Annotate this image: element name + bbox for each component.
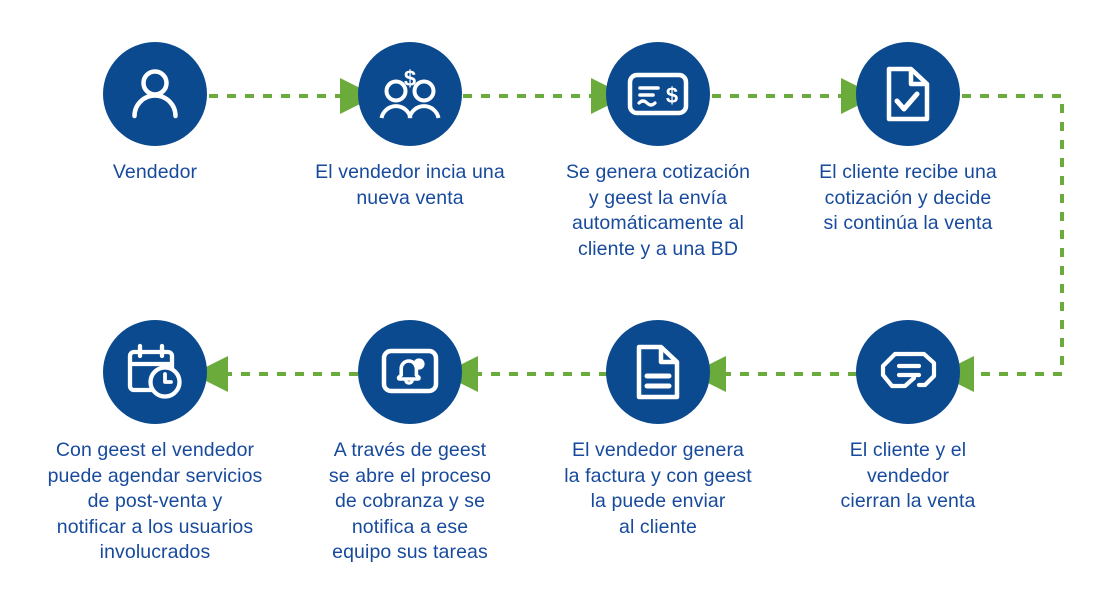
node-cobranza[interactable]: A través de geest se abre el proceso de … bbox=[295, 320, 525, 566]
node-cierre-label: El cliente y el vendedor cierran la vent… bbox=[793, 438, 1023, 515]
node-post-venta[interactable]: Con geest el vendedor puede agendar serv… bbox=[40, 320, 270, 566]
screen-bell-icon bbox=[380, 347, 440, 397]
node-post-venta-label: Con geest el vendedor puede agendar serv… bbox=[40, 438, 270, 566]
node-cierre-disc bbox=[856, 320, 960, 424]
node-factura-disc bbox=[606, 320, 710, 424]
calendar-clock-icon bbox=[125, 343, 185, 401]
svg-text:$: $ bbox=[666, 83, 678, 108]
node-cobranza-label: A través de geest se abre el proceso de … bbox=[295, 438, 525, 566]
node-post-venta-disc bbox=[103, 320, 207, 424]
node-cotizacion[interactable]: $ Se genera cotización y geest la envía … bbox=[543, 42, 773, 262]
node-nueva-venta-disc: $ bbox=[358, 42, 462, 146]
document-check-icon bbox=[882, 65, 934, 123]
node-nueva-venta[interactable]: $ El vendedor incia una nueva venta bbox=[295, 42, 525, 211]
node-cotizacion-label: Se genera cotización y geest la envía au… bbox=[543, 160, 773, 262]
node-vendedor-disc bbox=[103, 42, 207, 146]
handshake-icon bbox=[877, 344, 939, 400]
cheque-dollar-icon: $ bbox=[627, 70, 689, 118]
node-cierre[interactable]: El cliente y el vendedor cierran la vent… bbox=[793, 320, 1023, 515]
node-factura[interactable]: El vendedor genera la factura y con gees… bbox=[543, 320, 773, 540]
node-cliente-recibe[interactable]: El cliente recibe una cotización y decid… bbox=[793, 42, 1023, 237]
node-vendedor-label: Vendedor bbox=[40, 160, 270, 186]
node-cliente-recibe-disc bbox=[856, 42, 960, 146]
node-factura-label: El vendedor genera la factura y con gees… bbox=[543, 438, 773, 540]
diagram-canvas: Vendedor $ El vendedor incia una nueva v… bbox=[0, 0, 1111, 604]
node-cliente-recibe-label: El cliente recibe una cotización y decid… bbox=[793, 160, 1023, 237]
node-cotizacion-disc: $ bbox=[606, 42, 710, 146]
node-vendedor[interactable]: Vendedor bbox=[40, 42, 270, 186]
node-nueva-venta-label: El vendedor incia una nueva venta bbox=[295, 160, 525, 211]
node-cobranza-disc bbox=[358, 320, 462, 424]
user-icon bbox=[125, 64, 185, 124]
document-lines-icon bbox=[632, 343, 684, 401]
people-money-icon: $ bbox=[378, 64, 442, 124]
